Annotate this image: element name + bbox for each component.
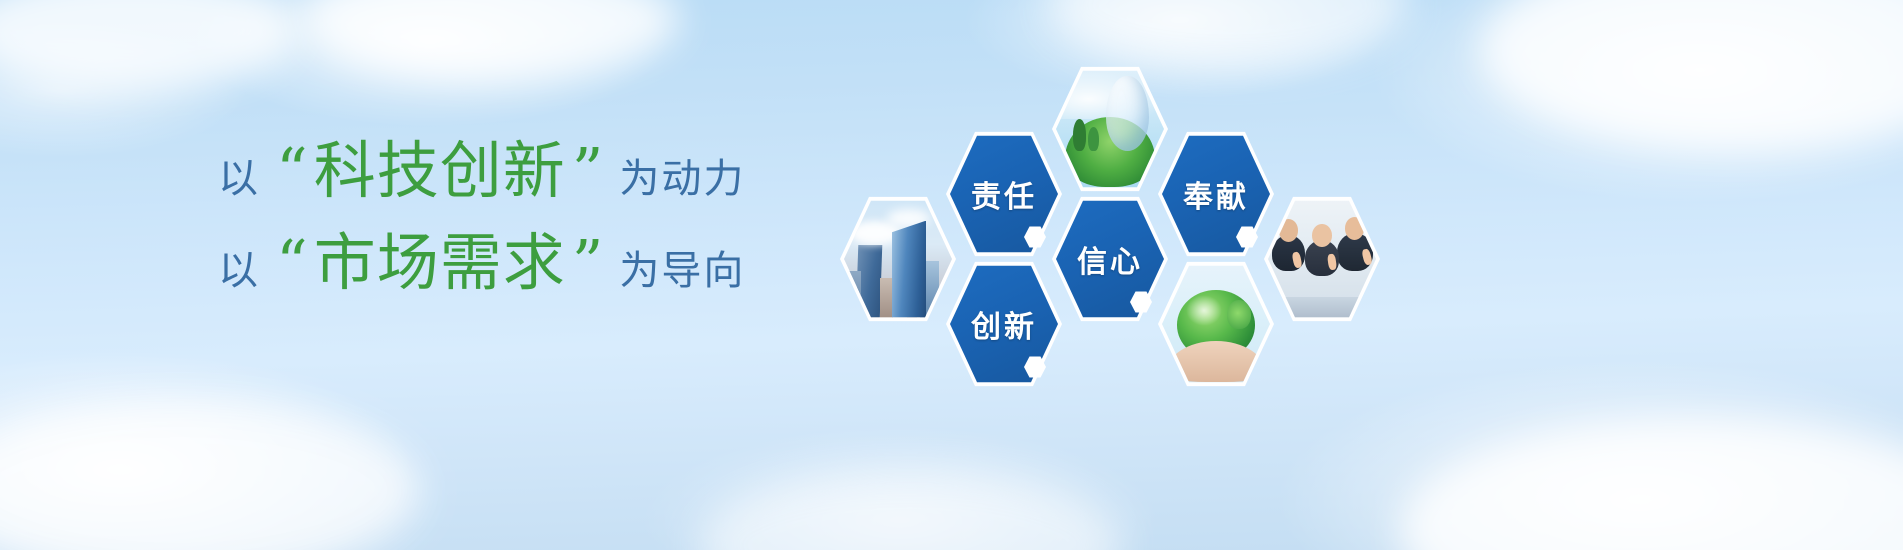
cloud-decoration (700, 470, 1120, 550)
slogan-line1-prefix: 以 (218, 146, 260, 204)
hex-responsibility-label: 责任 (971, 172, 1037, 216)
slogan-line1-close-quote: ” (572, 140, 604, 202)
cloud-decoration (300, 0, 680, 80)
corporate-slogan-banner: 以 “ 科技创新 ” 为动力 以 “ 市场需求 ” 为导向 (0, 0, 1903, 550)
slogan-line2-open-quote: “ (276, 232, 308, 294)
cloud-decoration (0, 400, 420, 550)
cloud-decoration (1480, 0, 1903, 150)
slogan-line1-highlight: 科技创新 (314, 140, 566, 202)
hex-confidence-label: 信心 (1077, 237, 1143, 281)
hex-city (840, 195, 956, 323)
slogan-line2-close-quote: ” (572, 232, 604, 294)
hex-plant-hands (1158, 260, 1274, 388)
slogan-line2-suffix: 为导向 (619, 238, 745, 296)
hex-eco-globe (1052, 65, 1168, 193)
hex-innovation-label: 创新 (971, 302, 1037, 346)
hex-innovation[interactable]: 创新 (946, 260, 1062, 388)
slogan-block: 以 “ 科技创新 ” 为动力 以 “ 市场需求 ” 为导向 (218, 140, 858, 324)
slogan-line1-open-quote: “ (276, 140, 308, 202)
slogan-line2-prefix: 以 (218, 238, 260, 296)
slogan-line1-suffix: 为动力 (619, 146, 745, 204)
slogan-line-2: 以 “ 市场需求 ” 为导向 (218, 232, 858, 324)
hexagon-cluster: 责任 奉献 信心 创新 (820, 55, 1420, 415)
slogan-line2-highlight: 市场需求 (314, 232, 566, 294)
slogan-line-1: 以 “ 科技创新 ” 为动力 (218, 140, 858, 232)
cloud-decoration (0, 0, 300, 90)
hex-dedication-label: 奉献 (1183, 172, 1249, 216)
cloud-decoration (1400, 420, 1903, 550)
hex-confidence[interactable]: 信心 (1052, 195, 1168, 323)
hex-responsibility[interactable]: 责任 (946, 130, 1062, 258)
hex-dedication[interactable]: 奉献 (1158, 130, 1274, 258)
hex-business-team (1264, 195, 1380, 323)
